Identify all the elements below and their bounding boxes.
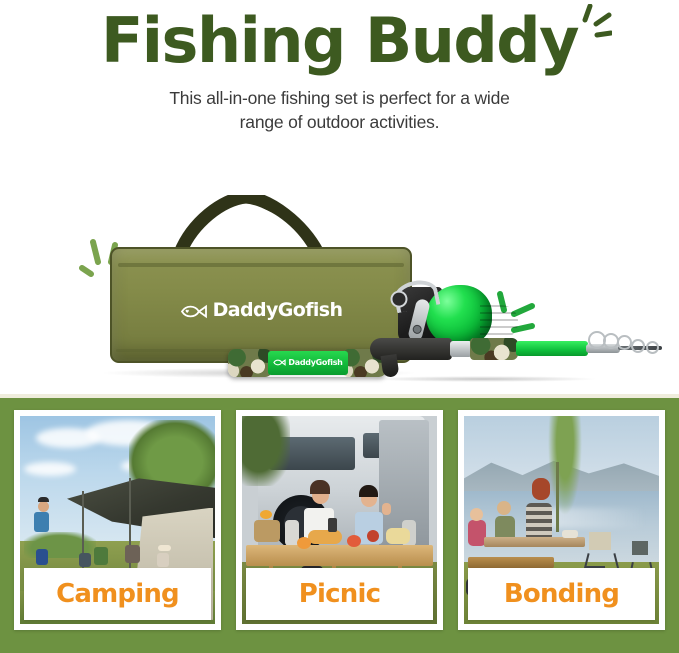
- reel-screw: [412, 324, 423, 335]
- card-label-text: Picnic: [299, 581, 380, 607]
- page-title: Fishing Buddy: [101, 8, 578, 73]
- rod-collar: [450, 341, 472, 357]
- reel-ribs: [480, 305, 518, 339]
- bag-zipper: [118, 263, 404, 267]
- use-case-card-picnic[interactable]: Picnic: [236, 410, 443, 630]
- bag-brand-text: DaddyGofish: [213, 299, 343, 321]
- grip-brand-text: DaddyGofish: [288, 358, 342, 367]
- use-case-card-list: Camping: [14, 410, 665, 630]
- hero-section: Fishing Buddy This all-in-one fishing se…: [0, 0, 679, 152]
- use-case-card-camping[interactable]: Camping: [14, 410, 221, 630]
- grip-brand-band: DaddyGofish: [268, 351, 348, 375]
- use-cases-panel: Camping: [0, 398, 679, 653]
- card-label-bonding: Bonding: [468, 568, 655, 620]
- bag-brand-logo: DaddyGofish: [112, 299, 410, 324]
- card-label-text: Camping: [56, 581, 179, 607]
- rod-drop-shadow: [368, 376, 598, 382]
- page-title-text: Fishing Buddy: [101, 4, 578, 77]
- bag-body: DaddyGofish: [110, 247, 412, 363]
- card-label-text: Bonding: [504, 581, 619, 607]
- title-row: Fishing Buddy: [0, 8, 679, 73]
- page-subtitle-line-1: This all-in-one fishing set is perfect f…: [0, 86, 679, 110]
- page-subtitle-line-2: range of outdoor activities.: [0, 110, 679, 134]
- use-case-card-bonding[interactable]: Bonding: [458, 410, 665, 630]
- fish-icon-bag: [180, 302, 208, 324]
- product-fishing-rod: [398, 283, 668, 383]
- rod-camo-section: [470, 338, 518, 360]
- page-subtitle: This all-in-one fishing set is perfect f…: [0, 86, 679, 134]
- rod-line-guide: [617, 335, 632, 350]
- rod-line-guide: [646, 341, 659, 354]
- rod-segment-green: [516, 341, 588, 356]
- rod-handle-grip: DaddyGofish: [228, 349, 386, 377]
- rod-line-guide: [631, 339, 645, 353]
- sparkle-icon-title: [572, 4, 612, 56]
- card-label-picnic: Picnic: [246, 568, 433, 620]
- product-infographic: Fishing Buddy This all-in-one fishing se…: [0, 0, 679, 653]
- fish-icon-grip: [273, 359, 286, 368]
- grip-brand-logo: DaddyGofish: [273, 358, 342, 368]
- card-label-camping: Camping: [24, 568, 211, 620]
- bag-handle-straps: [170, 195, 360, 253]
- grip-camo-left: [228, 349, 272, 377]
